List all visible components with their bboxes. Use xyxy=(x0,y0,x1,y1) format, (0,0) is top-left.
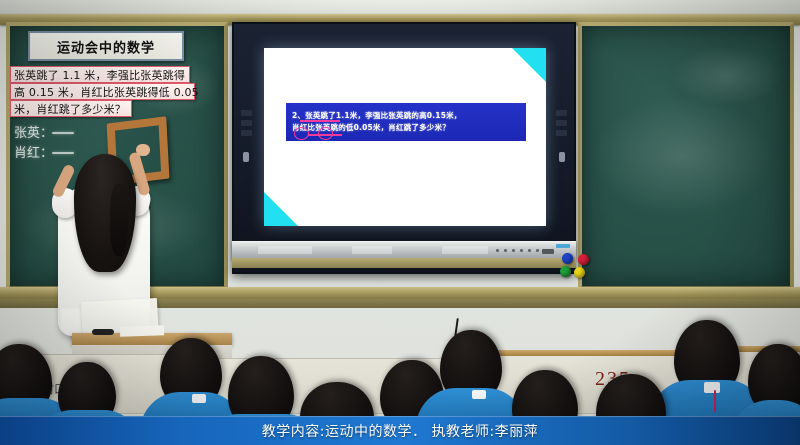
board-title-card: 运动会中的数学 xyxy=(28,31,184,61)
slide-pink-circle xyxy=(294,127,309,140)
speaker-vent xyxy=(556,130,567,136)
brand-badge xyxy=(556,244,570,248)
speaker-vent xyxy=(241,120,252,126)
control-button[interactable] xyxy=(504,249,507,252)
board-title-text: 运动会中的数学 xyxy=(57,36,155,56)
blackboard-right xyxy=(578,22,794,290)
slide-pink-circle xyxy=(318,127,333,140)
control-plate xyxy=(352,246,392,254)
speaker-vent xyxy=(241,130,252,136)
student-collar xyxy=(704,382,720,393)
interactive-whiteboard[interactable]: 2、张英跳了1.1米，李强比张英跳的高0.15米， 肖红比张英跳的低0.05米，… xyxy=(232,22,576,274)
side-knob[interactable] xyxy=(243,152,249,162)
slide-corner-accent-bottom-left xyxy=(264,192,298,226)
student-lanyard xyxy=(714,390,716,412)
teacher-hand xyxy=(136,144,150,156)
chalk-smudge xyxy=(592,96,772,216)
problem-strip-1-text: 张英跳了 1.1 米，李强比张英跳得 xyxy=(14,67,185,83)
speaker-vent xyxy=(241,110,252,116)
problem-strip-3-text: 米，肖红跳了多少米？ xyxy=(14,101,126,117)
video-frame: 运动会中的数学 张英跳了 1.1 米，李强比张英跳得 高 0.15 米，肖红比张… xyxy=(0,0,800,445)
control-plate xyxy=(442,246,488,254)
problem-strip-2-text: 高 0.15 米，肖红比张英跳得低 0.05 xyxy=(14,84,199,100)
speaker-vent xyxy=(556,120,567,126)
caption-bar: 教学内容:运动中的数学． 执教老师:李丽萍 xyxy=(0,416,800,445)
yellow-ball[interactable] xyxy=(574,267,585,278)
whiteboard-control-bar[interactable] xyxy=(232,241,576,259)
chalk-note-zhangying: 张英： xyxy=(14,122,53,141)
student-collar xyxy=(472,390,486,399)
speaker-vent xyxy=(556,110,567,116)
desk-paper xyxy=(120,325,164,337)
caption-text: 教学内容:运动中的数学． 执教老师:李丽萍 xyxy=(262,421,538,441)
control-button[interactable] xyxy=(528,249,531,252)
student-collar xyxy=(192,394,206,403)
control-button[interactable] xyxy=(520,249,523,252)
control-button[interactable] xyxy=(496,249,499,252)
control-button[interactable] xyxy=(536,249,539,252)
control-port xyxy=(542,249,554,254)
red-ball[interactable] xyxy=(578,254,589,265)
side-knob[interactable] xyxy=(559,152,565,162)
problem-strip-3: 米，肖红跳了多少米？ xyxy=(10,100,132,117)
chalk-dash xyxy=(52,132,74,134)
chalk-smudge xyxy=(672,46,782,106)
whiteboard-base-rail xyxy=(232,258,576,268)
problem-strip-2: 高 0.15 米，肖红比张英跳得低 0.05 xyxy=(10,83,195,100)
remote-control[interactable] xyxy=(92,329,114,335)
green-ball[interactable] xyxy=(560,266,571,277)
chalk-note-xiaohong: 肖红： xyxy=(14,142,53,161)
slide-pink-underline xyxy=(300,120,340,122)
teacher-hair-strand xyxy=(110,184,128,256)
magnet-balls[interactable] xyxy=(560,253,594,279)
projected-slide: 2、张英跳了1.1米，李强比张英跳的高0.15米， 肖红比张英跳的低0.05米，… xyxy=(264,48,546,226)
blue-ball[interactable] xyxy=(562,253,573,264)
slide-corner-accent-top-right xyxy=(512,48,546,82)
control-plate xyxy=(258,246,312,254)
problem-strip-1: 张英跳了 1.1 米，李强比张英跳得 xyxy=(10,66,190,83)
control-button[interactable] xyxy=(512,249,515,252)
